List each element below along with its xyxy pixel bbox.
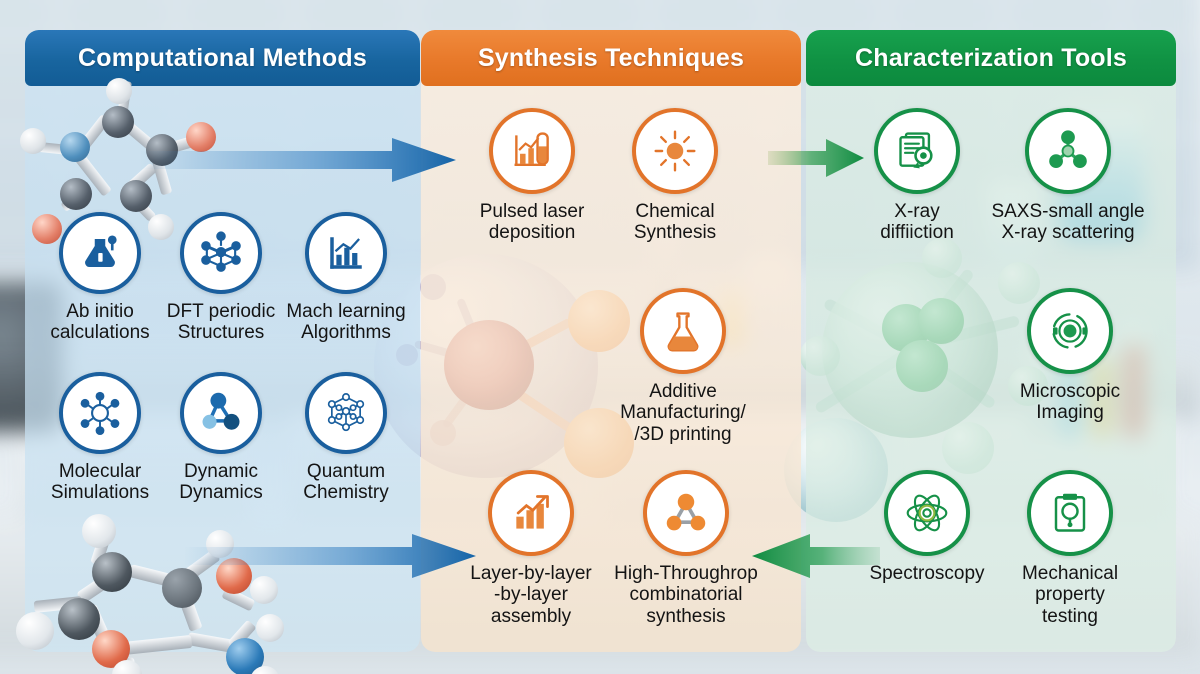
flask-beaker-icon: [59, 212, 141, 294]
triangle-nodes-icon: [180, 372, 262, 454]
hydrogen-atom: [82, 514, 116, 548]
item-machine-learning-algorithms[interactable]: Mach learningAlgorithms: [284, 212, 408, 344]
hydrogen-atom: [16, 612, 54, 650]
infographic-canvas: Computational Methods: [0, 0, 1200, 674]
hydrogen-atom: [106, 78, 132, 104]
quantum-cube-mesh-icon: [305, 372, 387, 454]
item-mechanical-property-testing[interactable]: Mechanicalpropertytesting: [1000, 470, 1140, 627]
item-molecular-simulations[interactable]: MolecularSimulations: [44, 372, 156, 504]
network-lattice-icon: [180, 212, 262, 294]
item-label: DynamicDynamics: [162, 461, 280, 504]
arrow-compute-to-synthesis-top: [140, 132, 460, 188]
molecular-ring-icon: [59, 372, 141, 454]
item-xray-diffraction[interactable]: X-raydiffiiction: [862, 108, 972, 244]
item-label: X-raydiffiiction: [862, 201, 972, 244]
item-label: QuantumChemistry: [284, 461, 408, 504]
item-microscopic-imaging[interactable]: MicroscopicImaging: [1000, 288, 1140, 424]
item-label: MolecularSimulations: [44, 461, 156, 504]
item-saxs-small-angle-xray-scattering[interactable]: SAXS-small angleX-ray scattering: [978, 108, 1158, 244]
arrow-synthesis-to-characterization: [768, 136, 864, 180]
hydrogen-atom: [20, 128, 46, 154]
item-high-throughput-combinatorial-synthesis[interactable]: High-Throughropcombinatorialsynthesis: [606, 470, 766, 627]
item-label: Mach learningAlgorithms: [284, 301, 408, 344]
nitrogen-atom: [60, 132, 90, 162]
bar-chart-trend-icon: [305, 212, 387, 294]
item-label: Layer-by-layer-by-layerassembly: [458, 563, 604, 627]
sun-burst-icon: [632, 108, 718, 194]
item-label: Mechanicalpropertytesting: [1000, 563, 1140, 627]
arrow-characterization-to-synthesis: [752, 528, 880, 584]
clipboard-gauge-icon: [1027, 470, 1113, 556]
item-dynamic-dynamics[interactable]: DynamicDynamics: [162, 372, 280, 504]
carbon-atom: [102, 106, 134, 138]
hydrogen-atom: [256, 614, 284, 642]
item-label: High-Throughropcombinatorialsynthesis: [606, 563, 766, 627]
microscope-lens-icon: [1027, 288, 1113, 374]
growth-arrow-chart-icon: [488, 470, 574, 556]
item-layer-by-layer-assembly[interactable]: Layer-by-layer-by-layerassembly: [458, 470, 604, 627]
item-ab-initio-calculations[interactable]: Ab initiocalculations: [44, 212, 156, 344]
carbon-atom: [60, 178, 92, 210]
scatter-molecule-icon: [1025, 108, 1111, 194]
carbon-atom: [58, 598, 100, 640]
item-label: DFT periodicStructures: [162, 301, 280, 344]
column-title-synthesis-techniques: Synthesis Techniques: [421, 30, 801, 86]
document-magnifier-icon: [874, 108, 960, 194]
carbon-atom: [92, 552, 132, 592]
item-chemical-synthesis[interactable]: ChemicalSynthesis: [610, 108, 740, 244]
test-tube-chart-icon: [489, 108, 575, 194]
item-additive-manufacturing[interactable]: AdditiveManufacturing//3D printing: [608, 288, 758, 445]
item-dft-periodic-structures[interactable]: DFT periodicStructures: [162, 212, 280, 344]
column-title-computational-methods: Computational Methods: [25, 30, 420, 86]
item-pulsed-laser-deposition[interactable]: Pulsed laserdeposition: [462, 108, 602, 244]
column-title-characterization-tools: Characterization Tools: [806, 30, 1176, 86]
item-label: Ab initiocalculations: [44, 301, 156, 344]
item-label: SAXS-small angleX-ray scattering: [978, 201, 1158, 244]
three-node-graph-icon: [643, 470, 729, 556]
erlenmeyer-flask-icon: [640, 288, 726, 374]
item-quantum-chemistry[interactable]: QuantumChemistry: [284, 372, 408, 504]
item-label: Pulsed laserdeposition: [462, 201, 602, 244]
atom-orbit-icon: [884, 470, 970, 556]
arrow-compute-to-synthesis-bottom: [184, 528, 476, 584]
item-label: ChemicalSynthesis: [610, 201, 740, 244]
nitrogen-atom: [170, 624, 210, 664]
item-label: AdditiveManufacturing//3D printing: [608, 381, 758, 445]
item-label: MicroscopicImaging: [1000, 381, 1140, 424]
